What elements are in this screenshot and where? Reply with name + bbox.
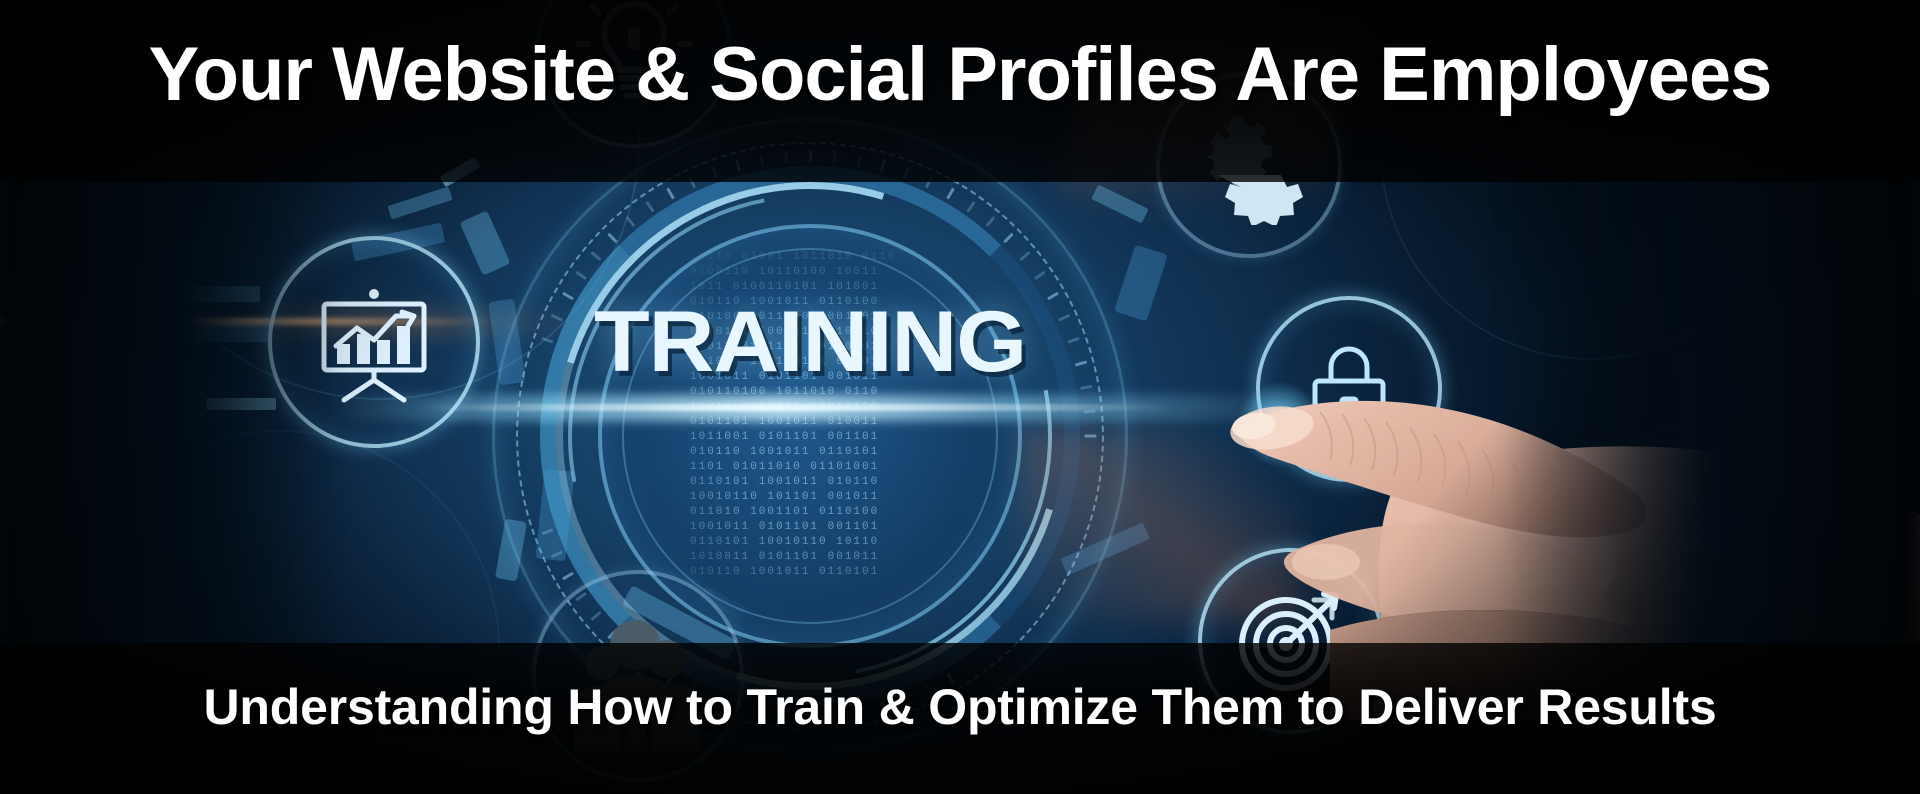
page-subtitle: Understanding How to Train & Optimize Th…: [0, 679, 1920, 735]
training-hero-banner: 10110 01001 1011010 0110 0100110 1011010…: [0, 0, 1920, 794]
page-title: Your Website & Social Profiles Are Emplo…: [0, 34, 1920, 116]
training-word: TRAINING: [587, 282, 1032, 402]
